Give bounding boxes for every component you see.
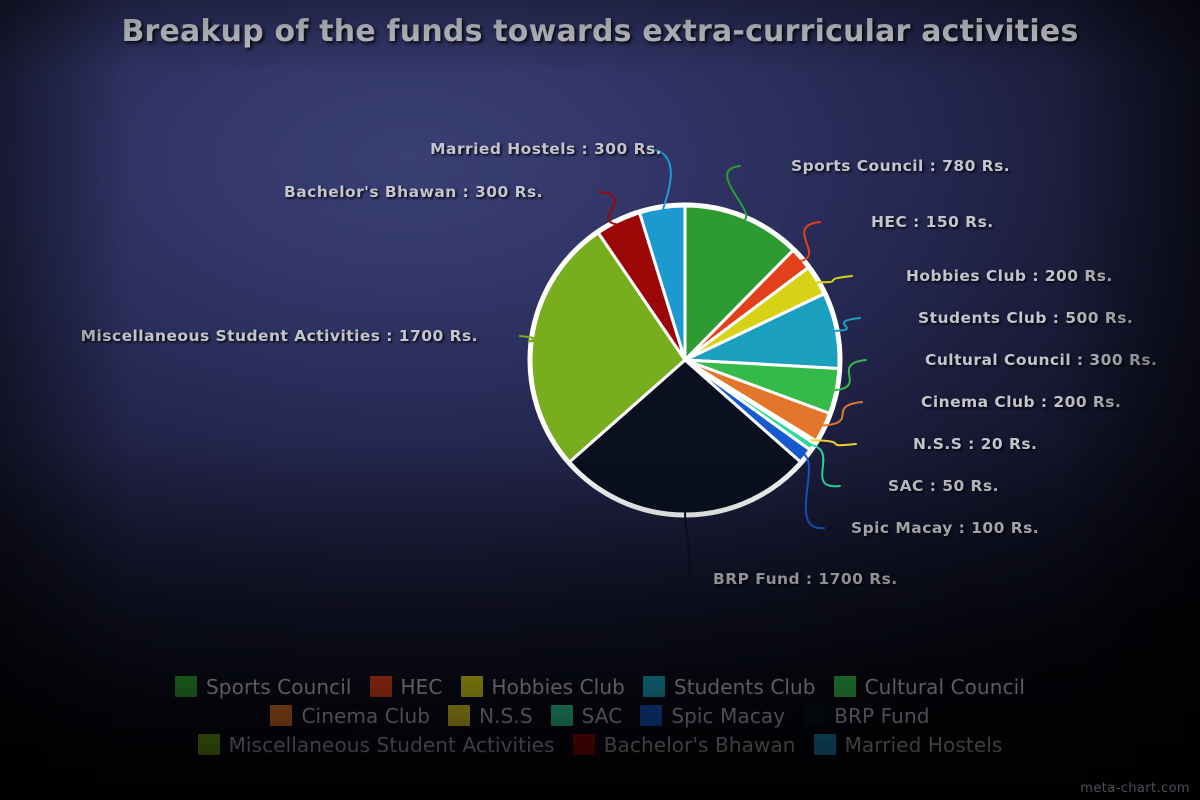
leader-line [802, 454, 824, 529]
slice-callout-label: Cultural Council : 300 Rs. [925, 351, 1157, 369]
legend-item[interactable]: Bachelor's Bhawan [573, 733, 796, 757]
legend-swatch-icon [803, 705, 825, 726]
legend-item[interactable]: HEC [370, 675, 443, 699]
legend-swatch-icon [270, 705, 292, 726]
slice-callout-label: BRP Fund : 1700 Rs. [713, 570, 898, 588]
legend-label: BRP Fund [834, 704, 929, 728]
legend-item[interactable]: Students Club [643, 675, 816, 699]
slice-callout-label: Cinema Club : 200 Rs. [921, 393, 1121, 411]
legend-label: Miscellaneous Student Activities [229, 733, 555, 757]
watermark: meta-chart.com [1080, 781, 1190, 796]
slice-callout-label: SAC : 50 Rs. [888, 477, 999, 495]
slice-callout-label: Students Club : 500 Rs. [918, 309, 1133, 327]
legend-item[interactable]: N.S.S [448, 704, 533, 728]
legend-swatch-icon [198, 734, 220, 755]
legend-item[interactable]: Sports Council [175, 675, 352, 699]
legend-item[interactable]: BRP Fund [803, 704, 929, 728]
slice-callout-label: Miscellaneous Student Activities : 1700 … [81, 327, 478, 345]
legend-label: Bachelor's Bhawan [604, 733, 796, 757]
legend-swatch-icon [370, 676, 392, 697]
legend-swatch-icon [640, 705, 662, 726]
legend-item[interactable]: Cinema Club [270, 704, 430, 728]
legend: Sports CouncilHECHobbies ClubStudents Cl… [0, 672, 1200, 759]
legend-swatch-icon [814, 734, 836, 755]
legend-label: Hobbies Club [492, 675, 625, 699]
legend-swatch-icon [834, 676, 856, 697]
slice-callout-label: Married Hostels : 300 Rs. [430, 140, 662, 158]
legend-label: N.S.S [479, 704, 533, 728]
slice-callout-label: Hobbies Club : 200 Rs. [906, 267, 1113, 285]
legend-swatch-icon [448, 705, 470, 726]
legend-label: Spic Macay [671, 704, 785, 728]
legend-row: Miscellaneous Student ActivitiesBachelor… [0, 730, 1200, 759]
legend-label: Cinema Club [301, 704, 430, 728]
slice-callout-label: Bachelor's Bhawan : 300 Rs. [284, 183, 543, 201]
legend-item[interactable]: SAC [551, 704, 623, 728]
leader-line [650, 149, 671, 212]
legend-label: HEC [401, 675, 443, 699]
legend-item[interactable]: Cultural Council [834, 675, 1025, 699]
legend-swatch-icon [461, 676, 483, 697]
legend-swatch-icon [643, 676, 665, 697]
legend-item[interactable]: Miscellaneous Student Activities [198, 733, 555, 757]
slice-callout-label: N.S.S : 20 Rs. [913, 435, 1037, 453]
pie-slices-group [529, 204, 841, 516]
legend-label: Students Club [674, 675, 816, 699]
slice-callout-label: Spic Macay : 100 Rs. [851, 519, 1039, 537]
legend-item[interactable]: Spic Macay [640, 704, 785, 728]
slice-callout-label: Sports Council : 780 Rs. [791, 157, 1010, 175]
leader-line [685, 510, 690, 571]
legend-swatch-icon [551, 705, 573, 726]
legend-item[interactable]: Married Hostels [814, 733, 1003, 757]
legend-item[interactable]: Hobbies Club [461, 675, 625, 699]
slice-callout-label: HEC : 150 Rs. [871, 213, 994, 231]
legend-swatch-icon [573, 734, 595, 755]
legend-row: Sports CouncilHECHobbies ClubStudents Cl… [0, 672, 1200, 701]
legend-label: Married Hostels [845, 733, 1003, 757]
legend-label: Sports Council [206, 675, 352, 699]
legend-swatch-icon [175, 676, 197, 697]
legend-label: Cultural Council [865, 675, 1025, 699]
pie-chart-page: Breakup of the funds towards extra-curri… [0, 0, 1200, 800]
legend-label: SAC [582, 704, 623, 728]
legend-row: Cinema ClubN.S.SSACSpic MacayBRP Fund [0, 701, 1200, 730]
